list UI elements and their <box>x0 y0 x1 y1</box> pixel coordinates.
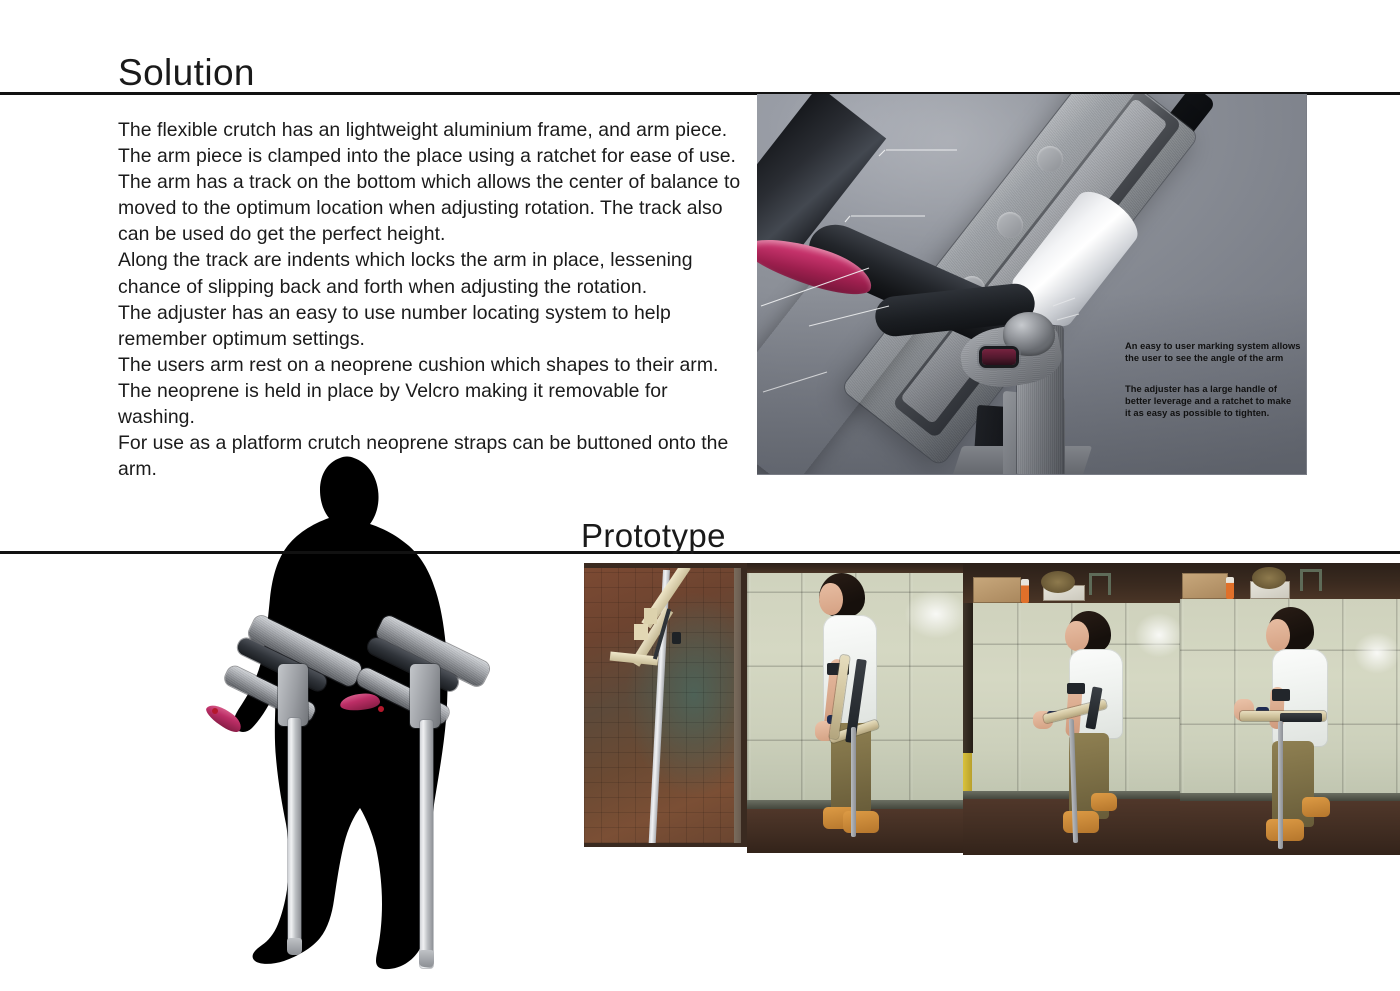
photo-4-coil <box>1252 567 1286 589</box>
photo-4-crutch-dark-rail <box>1280 713 1322 722</box>
crutch-right-tip <box>419 950 434 967</box>
photo-1-block-b <box>634 624 648 640</box>
page-title-prototype: Prototype <box>581 517 726 554</box>
photo-3-coil <box>1041 571 1075 593</box>
silhouette-shape <box>228 452 496 972</box>
photo-4-strap <box>1272 689 1290 701</box>
photo-4-boot-raised <box>1302 797 1330 817</box>
render-note-marking-system: An easy to user marking system allows th… <box>1125 340 1307 364</box>
page-title-solution: Solution <box>118 52 255 93</box>
crutch-left-bracket <box>278 664 308 726</box>
photo-user-platform-grip <box>1180 563 1400 855</box>
crutch-right-bracket <box>410 664 440 728</box>
photo-4-box-left <box>1182 573 1228 599</box>
cad-render-image: An easy to user marking system allows th… <box>757 94 1307 475</box>
photo-3-clamp-tool <box>1089 573 1111 595</box>
photo-user-walking-wide <box>963 563 1180 855</box>
photo-3-strap <box>1067 683 1085 694</box>
photo-3-face <box>1065 621 1089 651</box>
crutch-right-marker-dot <box>378 706 384 712</box>
photo-4-clamp-tool <box>1300 569 1322 591</box>
photo-1-white-border <box>577 563 584 847</box>
photo-3-box-left <box>973 577 1021 603</box>
photo-user-standing-side <box>747 563 963 853</box>
photo-4-crutch-pole <box>1278 721 1283 849</box>
photo-1-block-a <box>644 608 657 624</box>
photo-2-ceiling <box>747 563 963 573</box>
crutch-left-marker-dot <box>212 708 218 714</box>
photo-1-wall <box>734 568 741 843</box>
photo-prototype-on-floor <box>577 563 747 847</box>
photo-3-left-column <box>963 603 973 753</box>
photo-3-boot <box>1063 811 1099 833</box>
photo-1-floor <box>584 568 741 843</box>
render-note-adjuster: The adjuster has a large handle of bette… <box>1125 383 1307 420</box>
photo-3-spray-can <box>1021 579 1029 603</box>
photo-4-boot <box>1266 819 1304 841</box>
photo-4-spray-can <box>1226 577 1234 599</box>
user-silhouette-illustration <box>228 452 496 972</box>
portfolio-page: Solution The flexible crutch has an ligh… <box>0 0 1400 991</box>
photo-1-clamp <box>672 632 681 644</box>
solution-body-text: The flexible crutch has an lightweight a… <box>118 117 743 482</box>
photo-2-crutch-pole <box>851 727 856 837</box>
photo-3-boot-raised <box>1091 793 1117 811</box>
photo-2-boot-front <box>843 811 879 833</box>
crutch-left-tip <box>287 938 302 955</box>
photo-2-face <box>819 583 843 615</box>
photo-4-face <box>1266 619 1290 651</box>
prototype-photo-strip <box>577 563 1400 855</box>
crutch-right-pole <box>420 720 433 968</box>
crutch-left-pole <box>288 718 301 942</box>
